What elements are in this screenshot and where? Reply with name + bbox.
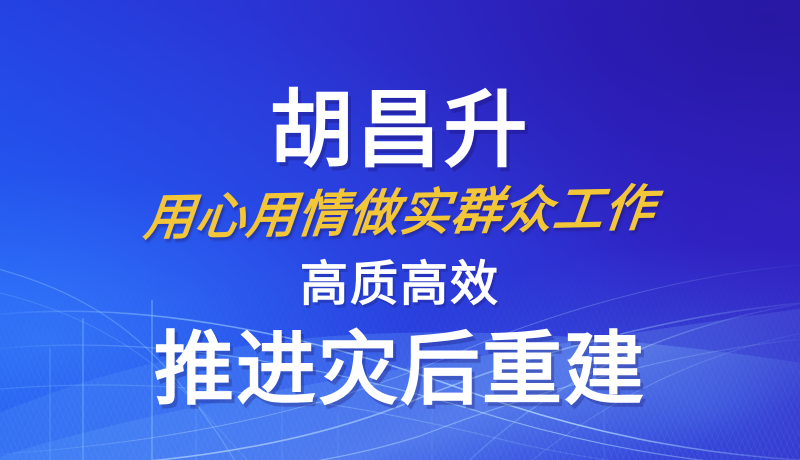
news-banner: 胡昌升 用心用情做实群众工作 高质高效 推进灾后重建 (0, 0, 800, 460)
banner-text-stack: 胡昌升 用心用情做实群众工作 高质高效 推进灾后重建 (0, 0, 800, 460)
slogan-calligraphy: 用心用情做实群众工作 (142, 183, 658, 243)
headline-name: 胡昌升 (269, 88, 530, 172)
headline-rebuild: 推进灾后重建 (154, 330, 646, 410)
subline-quality: 高质高效 (300, 260, 500, 308)
